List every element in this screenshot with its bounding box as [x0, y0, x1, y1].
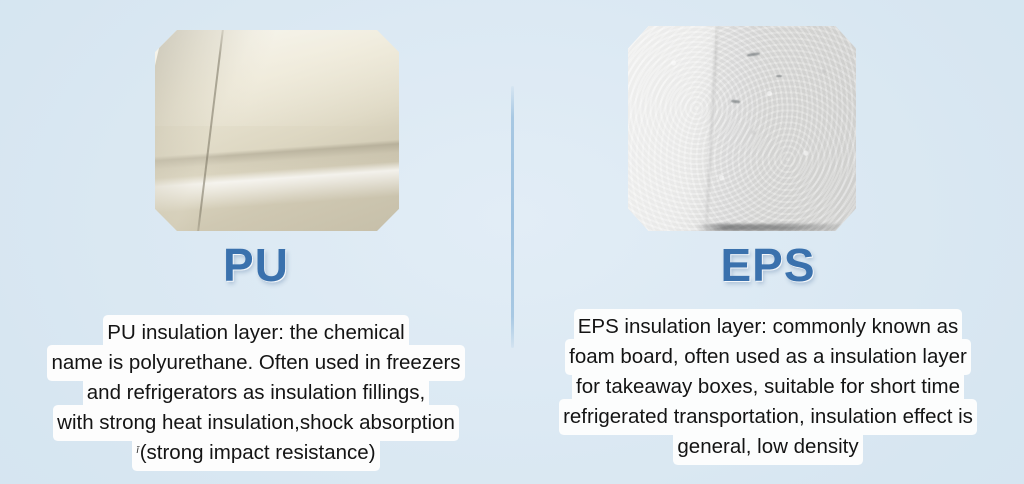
pu-foam-photo — [155, 30, 399, 231]
eps-description-line: general, low density — [534, 432, 1002, 462]
panel-eps: EPS EPS insulation layer: commonly known… — [512, 0, 1024, 484]
pu-description-line: and refrigerators as insulation fillings… — [6, 378, 506, 408]
eps-heading: EPS — [512, 242, 1024, 288]
eps-description-line: foam board, often used as a insulation l… — [534, 342, 1002, 372]
pu-description: PU insulation layer: the chemical name i… — [6, 318, 506, 468]
comparison-slide: PU PU insulation layer: the chemical nam… — [0, 0, 1024, 484]
eps-description-line: EPS insulation layer: commonly known as — [534, 312, 1002, 342]
pu-description-line: with strong heat insulation,shock absorp… — [6, 408, 506, 438]
pu-heading: PU — [0, 242, 512, 288]
ocr-artifact-glyph: ī — [136, 445, 138, 456]
panel-pu: PU PU insulation layer: the chemical nam… — [0, 0, 512, 484]
pu-description-line-last: ī(strong impact resistance) — [6, 438, 506, 468]
eps-foam-bottom-shadow — [696, 224, 856, 231]
eps-foam-left-face — [628, 26, 715, 231]
eps-description-line: refrigerated transportation, insulation … — [534, 402, 1002, 432]
eps-description-line: for takeaway boxes, suitable for short t… — [534, 372, 1002, 402]
eps-description: EPS insulation layer: commonly known as … — [534, 312, 1002, 462]
pu-description-line: name is polyurethane. Often used in free… — [6, 348, 506, 378]
pu-description-line-text: (strong impact resistance) — [140, 441, 376, 464]
eps-foam-photo — [628, 26, 856, 231]
pu-description-line: PU insulation layer: the chemical — [6, 318, 506, 348]
